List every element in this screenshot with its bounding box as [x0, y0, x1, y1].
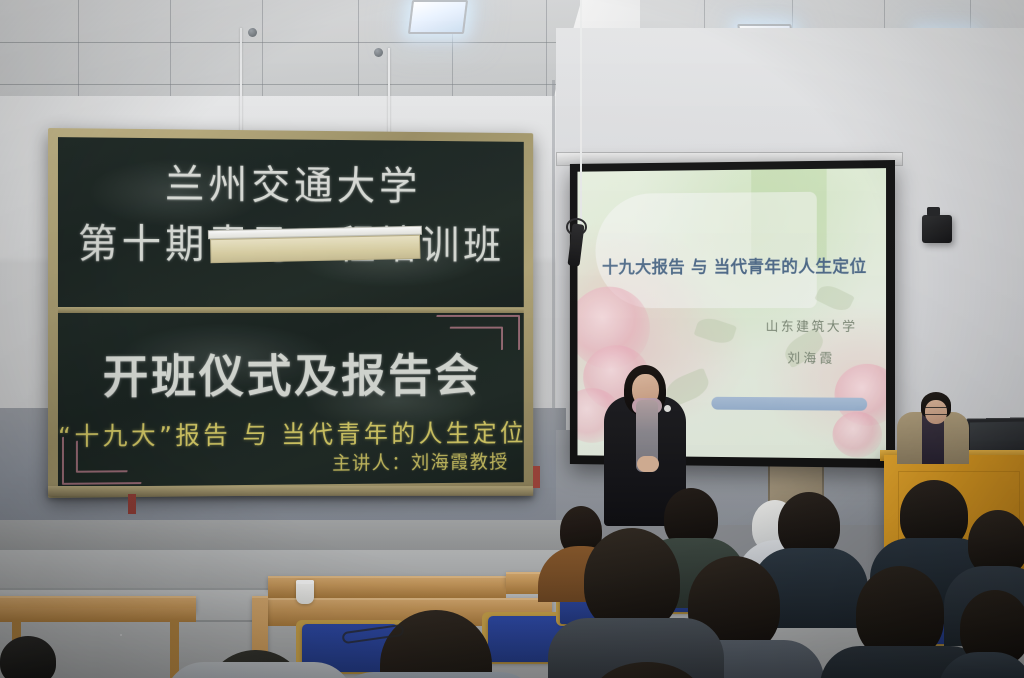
- pendant-fluorescent-light: [208, 226, 420, 246]
- slide-leaf-2: [694, 314, 737, 347]
- lecturer-lapel-pin: [664, 405, 671, 412]
- desk-leg-2: [170, 620, 179, 678]
- desk-front-mid-left: [0, 608, 196, 622]
- light-reflector: [210, 235, 420, 263]
- blackboard-line-3: 开班仪式及报告会: [58, 340, 524, 407]
- chalk-tray-tag-right: [533, 466, 540, 488]
- slide-title: 十九大报告 与 当代青年的人生定位: [590, 252, 880, 278]
- blackboard-surface: 兰州交通大学 第十期青马工程培训班 开班仪式及报告会 “十九大”报告 与 当代青…: [58, 137, 524, 487]
- chalk-tray: [48, 486, 533, 496]
- ceiling-light-1: [408, 0, 468, 34]
- slide-leaf-4: [814, 281, 855, 315]
- slide-accent-bar: [711, 397, 867, 411]
- lecture-hall-scene: 兰州交通大学 第十期青马工程培训班 开班仪式及报告会 “十九大”报告 与 当代青…: [0, 0, 1024, 678]
- slide-organization: 山东建筑大学: [766, 316, 858, 335]
- slide-title-panel: [596, 192, 817, 308]
- blackboard: 兰州交通大学 第十期青马工程培训班 开班仪式及报告会 “十九大”报告 与 当代青…: [48, 128, 533, 498]
- microphone-cable: [580, 0, 582, 228]
- chalk-tray-tag-left: [128, 494, 136, 514]
- moderator-glasses: [924, 407, 948, 415]
- blackboard-upper-panel: 兰州交通大学 第十期青马工程培训班: [58, 137, 524, 309]
- ceiling-sensor-2: [374, 48, 383, 57]
- slide-rose-5: [833, 412, 883, 458]
- wall-speaker: [922, 215, 952, 243]
- blackboard-presenter-line: 主讲人：刘海霞教授: [332, 447, 509, 475]
- paper-cup: [296, 580, 314, 604]
- slide-speaker-name: 刘海霞: [787, 348, 835, 367]
- blackboard-line-1: 兰州交通大学: [58, 151, 524, 212]
- lecturer-hands: [637, 456, 659, 472]
- laptop-screen: [970, 421, 1024, 451]
- ceiling-sensor-1: [248, 28, 257, 37]
- blackboard-lower-panel: 开班仪式及报告会 “十九大”报告 与 当代青年的人生定位 主讲人：刘海霞教授: [58, 313, 524, 487]
